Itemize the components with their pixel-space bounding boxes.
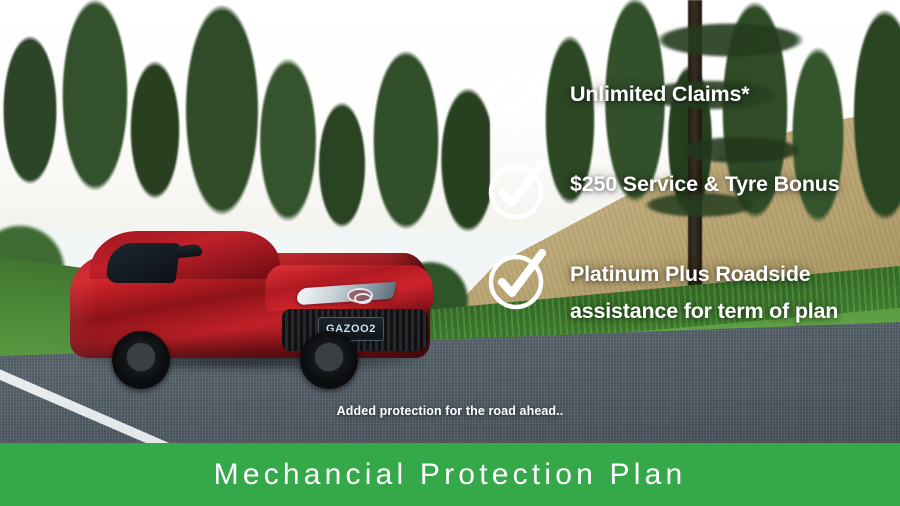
check-circle-icon [486, 250, 546, 310]
benefit-label: $250 Service & Tyre Bonus [570, 152, 886, 203]
benefit-item: Platinum Plus Roadside assistance for te… [486, 242, 886, 332]
banner-title: Mechancial Protection Plan [214, 458, 687, 492]
check-circle-icon [486, 160, 546, 220]
car-front-wheel [300, 331, 358, 389]
check-circle-icon [486, 70, 546, 130]
caption-text: Added protection for the road ahead.. [0, 404, 900, 418]
car: GAZOO2 [60, 225, 440, 385]
car-brand-badge-icon [347, 288, 373, 303]
benefits-list: Unlimited Claims* $250 Service & Tyre Bo… [486, 62, 886, 332]
benefit-item: Unlimited Claims* [486, 62, 886, 152]
promo-banner-image: GAZOO2 Added protection for the road ahe… [0, 0, 900, 506]
bottom-banner: Mechancial Protection Plan [0, 443, 900, 506]
benefit-label: Unlimited Claims* [570, 62, 886, 113]
benefit-label: Platinum Plus Roadside assistance for te… [570, 242, 886, 330]
benefit-item: $250 Service & Tyre Bonus [486, 152, 886, 242]
car-side-window [105, 243, 181, 283]
car-rear-wheel [112, 331, 170, 389]
